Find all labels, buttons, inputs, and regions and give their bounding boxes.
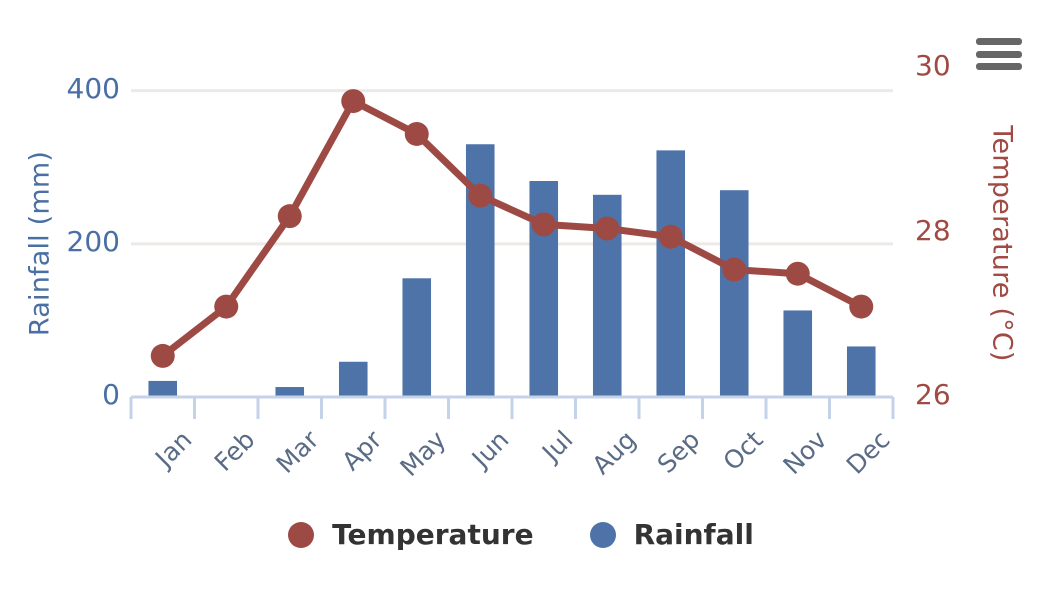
bar[interactable] bbox=[720, 190, 749, 397]
temperature-markers bbox=[151, 89, 874, 368]
data-point-marker[interactable] bbox=[595, 217, 619, 241]
legend-label: Temperature bbox=[332, 518, 533, 551]
data-point-marker[interactable] bbox=[722, 258, 746, 282]
rainfall-temperature-chart: Rainfall (mm) Temperature (°C) 0200400 2… bbox=[0, 0, 1042, 590]
legend-item[interactable]: Temperature bbox=[288, 518, 533, 551]
data-point-marker[interactable] bbox=[849, 295, 873, 319]
data-point-marker[interactable] bbox=[468, 184, 492, 208]
data-point-marker[interactable] bbox=[786, 262, 810, 286]
data-point-marker[interactable] bbox=[151, 344, 175, 368]
temperature-polyline bbox=[163, 101, 862, 356]
data-point-marker[interactable] bbox=[659, 225, 683, 249]
legend-item[interactable]: Rainfall bbox=[590, 518, 754, 551]
bar[interactable] bbox=[783, 310, 812, 397]
data-point-marker[interactable] bbox=[214, 295, 238, 319]
legend-marker-circle-icon bbox=[590, 522, 616, 548]
data-point-marker[interactable] bbox=[278, 204, 302, 228]
data-point-marker[interactable] bbox=[405, 122, 429, 146]
bar[interactable] bbox=[148, 381, 177, 397]
x-axis-line bbox=[131, 397, 893, 419]
bar[interactable] bbox=[339, 362, 368, 397]
legend-label: Rainfall bbox=[634, 518, 754, 551]
temperature-line bbox=[163, 101, 862, 356]
bar[interactable] bbox=[402, 278, 431, 397]
bar[interactable] bbox=[847, 346, 876, 397]
gridlines bbox=[131, 91, 893, 244]
data-point-marker[interactable] bbox=[341, 89, 365, 113]
data-point-marker[interactable] bbox=[532, 212, 556, 236]
chart-legend: TemperatureRainfall bbox=[0, 518, 1042, 551]
bar[interactable] bbox=[656, 150, 685, 397]
legend-marker-circle-icon bbox=[288, 522, 314, 548]
